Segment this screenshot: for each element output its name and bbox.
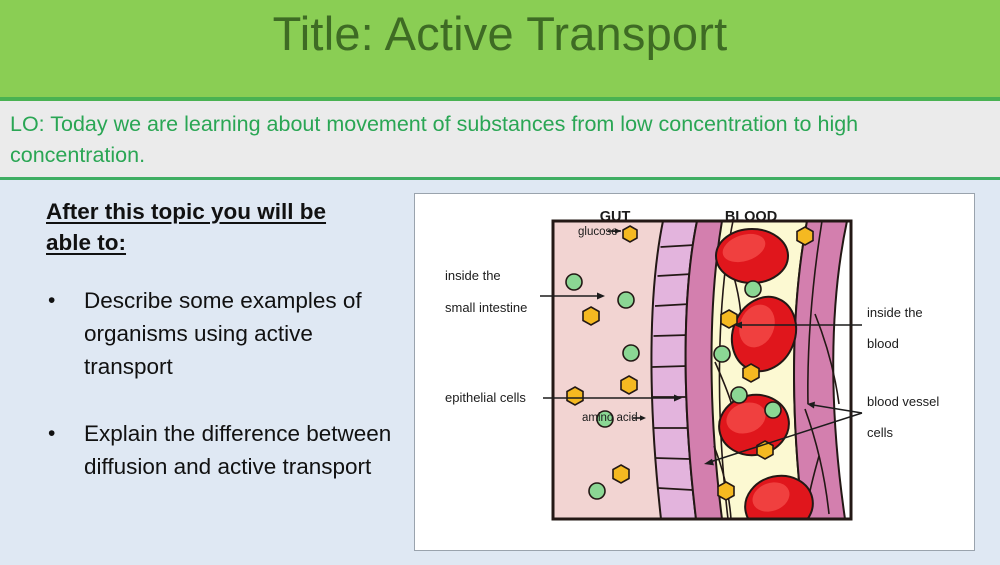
label-blood-vessel-cells-line1: blood vessel	[867, 394, 939, 409]
glucose-molecule	[623, 226, 637, 242]
amino-acid-molecule	[765, 402, 781, 418]
label-blood-vessel-cells-line2: cells	[867, 425, 894, 440]
glucose-molecule	[797, 227, 813, 245]
amino-acid-molecule	[714, 346, 730, 362]
glucose-molecule	[621, 376, 637, 394]
active-transport-diagram: GUT BLOOD	[414, 193, 975, 551]
objectives-column: After this topic you will be able to: • …	[46, 196, 396, 483]
label-amino-acid: amino acid	[582, 412, 638, 424]
bullet-marker-icon: •	[46, 284, 84, 383]
slide-title-bar: Title: Active Transport	[0, 0, 1000, 97]
label-glucose: glucose	[578, 226, 618, 238]
amino-acid-molecule	[745, 281, 761, 297]
glucose-molecule	[613, 465, 629, 483]
objectives-heading: After this topic you will be able to:	[46, 196, 371, 258]
learning-objective-bar: LO: Today we are learning about movement…	[0, 101, 1000, 177]
amino-acid-molecule	[731, 387, 747, 403]
objective-text: Explain the difference between diffusion…	[84, 417, 396, 483]
glucose-molecule	[567, 387, 583, 405]
glucose-molecule	[721, 310, 737, 328]
label-inside-blood-line2: blood	[867, 336, 899, 351]
amino-acid-molecule	[618, 292, 634, 308]
bullet-marker-icon: •	[46, 417, 84, 483]
glucose-molecule	[583, 307, 599, 325]
amino-acid-molecule	[566, 274, 582, 290]
gut-blood-illustration: GUT BLOOD	[415, 194, 974, 550]
glucose-molecule	[718, 482, 734, 500]
label-inside-small-intestine-line2: small intestine	[445, 300, 527, 315]
learning-objective-text: LO: Today we are learning about movement…	[10, 109, 986, 171]
red-blood-cell	[716, 229, 788, 283]
label-inside-blood-line1: inside the	[867, 305, 923, 320]
illustration-body	[553, 221, 853, 540]
slide-body: After this topic you will be able to: • …	[0, 180, 1000, 565]
list-item: • Describe some examples of organisms us…	[46, 284, 396, 383]
page-title: Title: Active Transport	[0, 8, 1000, 60]
amino-acid-molecule	[623, 345, 639, 361]
glucose-molecule	[743, 364, 759, 382]
label-epithelial-cells: epithelial cells	[445, 390, 526, 405]
amino-acid-molecule	[589, 483, 605, 499]
label-inside-small-intestine-line1: inside the	[445, 268, 501, 283]
left-callout-labels: inside the small intestine epithelial ce…	[445, 268, 527, 405]
right-callout-labels: inside the blood blood vessel cells	[867, 305, 939, 440]
diagram-canvas: GUT BLOOD	[415, 194, 974, 550]
objective-text: Describe some examples of organisms usin…	[84, 284, 396, 383]
objectives-list: • Describe some examples of organisms us…	[46, 284, 396, 483]
list-item: • Explain the difference between diffusi…	[46, 417, 396, 483]
